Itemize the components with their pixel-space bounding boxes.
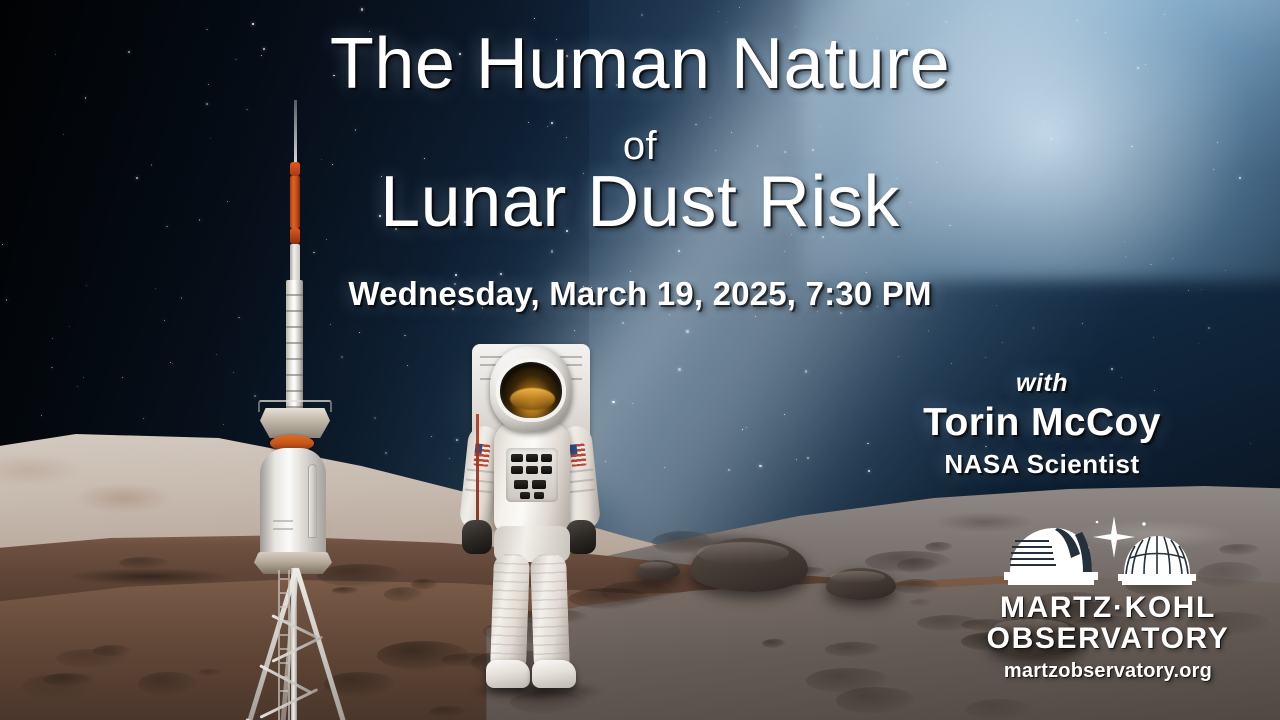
- speaker-with-label: with: [846, 368, 1238, 398]
- logo-website[interactable]: martzobservatory.org: [972, 656, 1244, 686]
- speaker-role: NASA Scientist: [846, 449, 1238, 480]
- logo-name-line1: MARTZ·KOHL: [972, 592, 1244, 623]
- speaker-block: with Torin McCoy NASA Scientist: [846, 368, 1238, 480]
- observatory-logo-art: [996, 514, 1216, 588]
- observatory-logo[interactable]: MARTZ·KOHL OBSERVATORY martzobservatory.…: [972, 514, 1244, 682]
- observatory-dome-ribbed-icon: [1118, 536, 1196, 585]
- event-datetime: Wednesday, March 19, 2025, 7:30 PM: [0, 275, 1280, 313]
- speaker-name: Torin McCoy: [846, 398, 1238, 449]
- logo-name-line2: OBSERVATORY: [972, 623, 1244, 655]
- event-poster: The Human Nature of Lunar Dust Risk Wedn…: [0, 0, 1280, 720]
- observatory-logo-text: MARTZ·KOHL OBSERVATORY martzobservatory.…: [972, 592, 1244, 686]
- page-title-line2: Lunar Dust Risk: [0, 166, 1280, 239]
- observatory-dome-open-icon: [1004, 528, 1098, 585]
- page-title-line1: The Human Nature: [0, 28, 1280, 101]
